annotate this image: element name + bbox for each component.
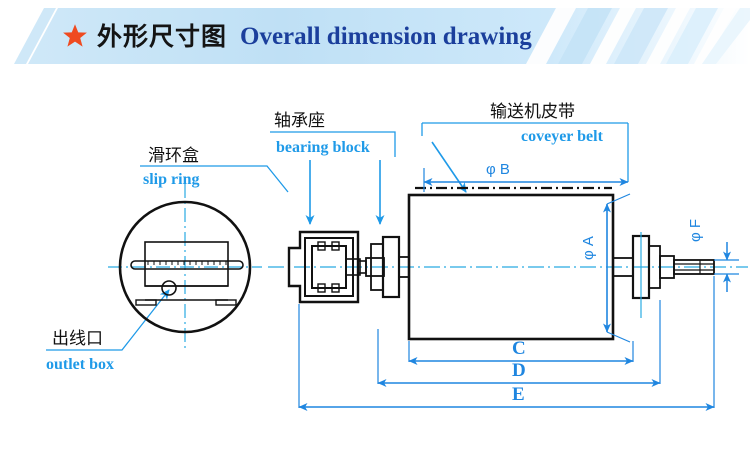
dimension-e-label: E xyxy=(512,384,525,405)
page-title-en: Overall dimension drawing xyxy=(240,24,532,49)
dimension-phi-f-label: φ F xyxy=(687,219,704,242)
dimension-c: C xyxy=(409,338,633,362)
callout-conveyor-belt-en: coveyer belt xyxy=(521,128,604,145)
dimension-drawing: 滑环盒 slip ring 轴承座 bearing block 输送机皮带 co… xyxy=(0,64,750,458)
callout-outlet-box: 出线口 outlet box xyxy=(46,290,169,373)
callout-bearing-block-en: bearing block xyxy=(276,139,370,156)
drawing-canvas: 滑环盒 slip ring 轴承座 bearing block 输送机皮带 co… xyxy=(0,64,750,458)
callout-conveyor-belt-cn: 输送机皮带 xyxy=(490,102,575,122)
callout-bearing-block-cn: 轴承座 xyxy=(274,111,325,131)
header-banner: 外形尺寸图 Overall dimension drawing xyxy=(0,8,750,64)
callout-bearing-block: 轴承座 bearing block xyxy=(270,111,395,224)
dimension-phi-a: φ A xyxy=(580,194,630,342)
dimension-phi-f: φ F xyxy=(687,219,739,292)
dimension-phi-b-label: φ B xyxy=(486,161,510,178)
callout-slip-ring-cn: 滑环盒 xyxy=(148,146,199,166)
star-icon xyxy=(62,23,88,49)
dimension-e: E xyxy=(299,276,714,408)
callout-conveyor-belt: 输送机皮带 coveyer belt xyxy=(422,102,628,192)
dimension-c-label: C xyxy=(512,338,526,359)
callout-outlet-box-cn: 出线口 xyxy=(52,329,103,349)
callout-outlet-box-en: outlet box xyxy=(46,356,114,373)
header-title: 外形尺寸图 Overall dimension drawing xyxy=(62,16,532,56)
right-shaft-assembly xyxy=(613,232,714,318)
slip-ring-detail xyxy=(108,184,262,352)
page-title-cn: 外形尺寸图 xyxy=(97,24,227,49)
callout-slip-ring-en: slip ring xyxy=(143,171,199,188)
callout-slip-ring: 滑环盒 slip ring xyxy=(140,146,288,192)
dimension-d-label: D xyxy=(512,360,526,381)
dimension-phi-a-label: φ A xyxy=(580,236,597,260)
